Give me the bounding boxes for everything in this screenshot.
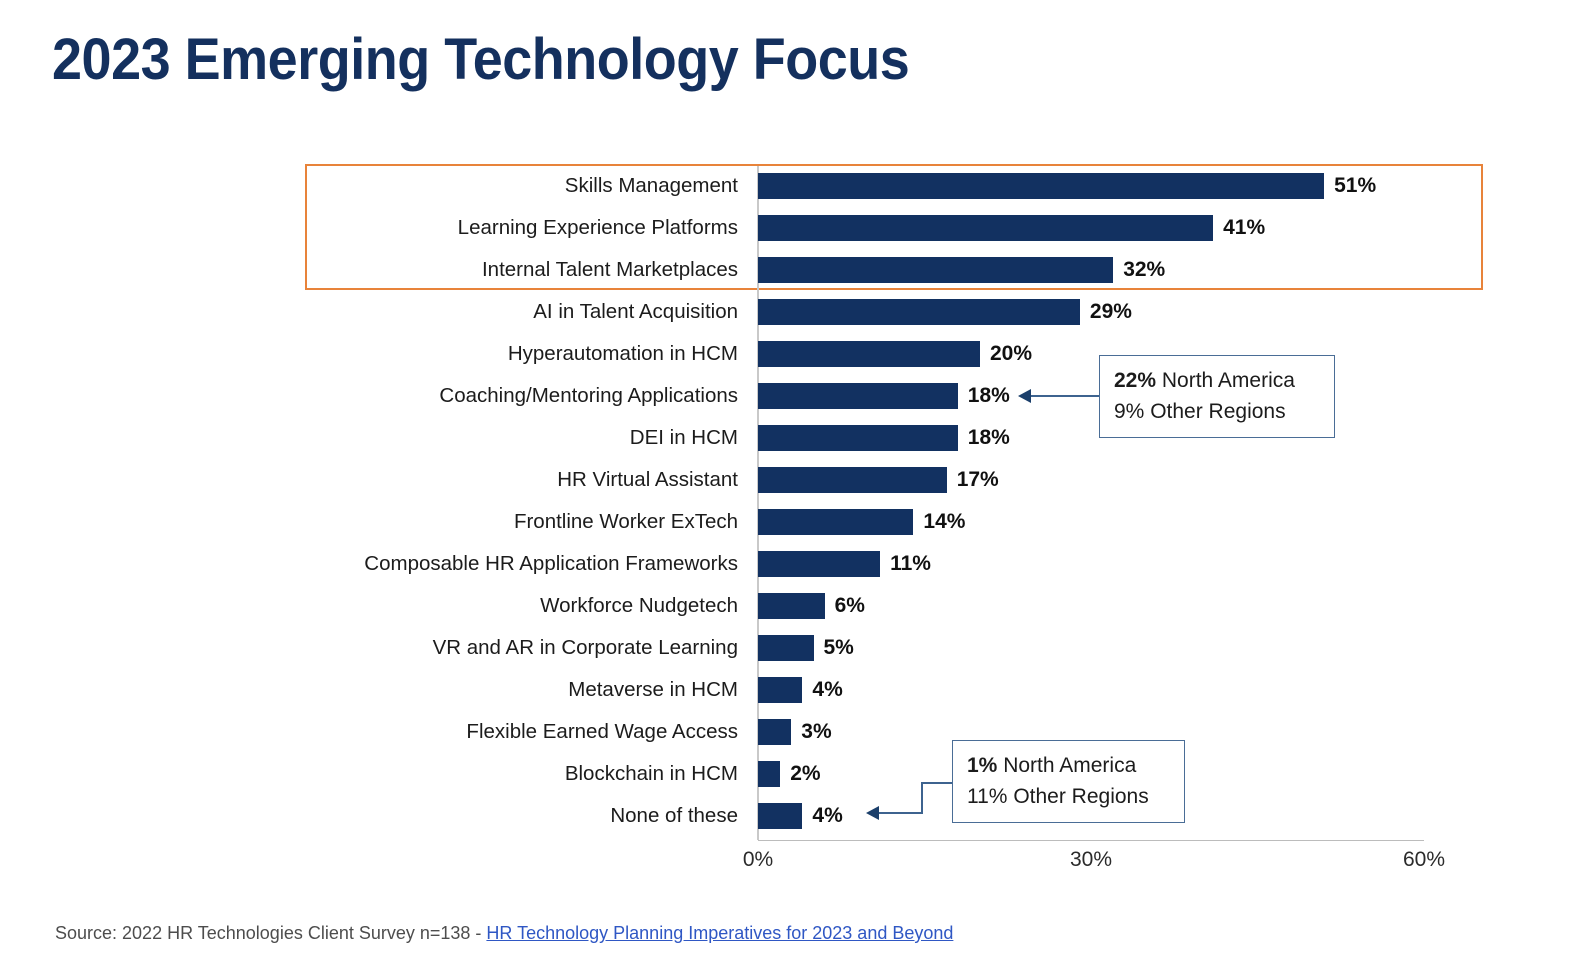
category-label: Blockchain in HCM [300,753,738,795]
callout-region: North America [1003,754,1136,777]
bar-value-label: 29% [1090,299,1132,325]
bar-value-label: 4% [812,803,842,829]
bar-row: Internal Talent Marketplaces32% [300,249,1500,291]
bar [758,803,802,829]
bar [758,299,1080,325]
callout-value: 1% [967,754,997,777]
category-label: DEI in HCM [300,417,738,459]
callout-line: 22% North America [1114,365,1320,396]
bar-value-label: 32% [1123,257,1165,283]
bar-row: HR Virtual Assistant17% [300,459,1500,501]
source-note: Source: 2022 HR Technologies Client Surv… [55,923,953,944]
category-label: Internal Talent Marketplaces [300,249,738,291]
none-of-these-callout: 1% North America 11% Other Regions [952,740,1185,823]
bar-value-label: 4% [812,677,842,703]
coaching-callout-connector-line [1031,395,1099,397]
bar-row: VR and AR in Corporate Learning5% [300,627,1500,669]
axis-tick-label: 0% [698,848,818,872]
category-label: HR Virtual Assistant [300,459,738,501]
coaching-mentoring-callout: 22% North America 9% Other Regions [1099,355,1335,438]
none-callout-connector-horizontal-bottom [879,812,923,814]
callout-line: 9% Other Regions [1114,396,1320,427]
category-label: Flexible Earned Wage Access [300,711,738,753]
value-axis-line [758,840,1424,841]
bar-row: Learning Experience Platforms41% [300,207,1500,249]
bar [758,719,791,745]
category-label: Hyperautomation in HCM [300,333,738,375]
bar-row: None of these4% [300,795,1500,837]
bar [758,341,980,367]
none-callout-connector-horizontal-top [921,782,952,784]
bar-row: Composable HR Application Frameworks11% [300,543,1500,585]
category-label: None of these [300,795,738,837]
callout-value: 9% [1114,400,1144,423]
bar [758,215,1213,241]
category-label: Metaverse in HCM [300,669,738,711]
category-label: Skills Management [300,165,738,207]
axis-tick-label: 30% [1031,848,1151,872]
coaching-callout-arrow-icon [1018,389,1031,403]
bar-value-label: 51% [1334,173,1376,199]
category-label: AI in Talent Acquisition [300,291,738,333]
bar-row: Workforce Nudgetech6% [300,585,1500,627]
callout-line: 1% North America [967,750,1170,781]
bar-row: Blockchain in HCM2% [300,753,1500,795]
bar-value-label: 11% [890,551,931,577]
bar-value-label: 18% [968,383,1010,409]
none-callout-connector-vertical [921,782,923,814]
bar [758,593,825,619]
bar [758,551,880,577]
bar-value-label: 41% [1223,215,1265,241]
source-link[interactable]: HR Technology Planning Imperatives for 2… [486,923,953,943]
category-label: Workforce Nudgetech [300,585,738,627]
bar [758,173,1324,199]
bar-value-label: 14% [923,509,965,535]
bar-value-label: 18% [968,425,1010,451]
bar [758,677,802,703]
bar-value-label: 17% [957,467,999,493]
bar [758,761,780,787]
category-label: VR and AR in Corporate Learning [300,627,738,669]
bar-value-label: 20% [990,341,1032,367]
callout-region: North America [1162,369,1295,392]
bar [758,383,958,409]
callout-value: 11% [967,785,1007,808]
category-label: Frontline Worker ExTech [300,501,738,543]
callout-region: Other Regions [1013,785,1148,808]
bar-row: Metaverse in HCM4% [300,669,1500,711]
bar [758,257,1113,283]
bar-value-label: 3% [801,719,831,745]
category-label: Composable HR Application Frameworks [300,543,738,585]
source-prefix: Source: 2022 HR Technologies Client Surv… [55,923,486,943]
none-callout-arrow-icon [866,806,879,820]
bar-row: AI in Talent Acquisition29% [300,291,1500,333]
bar [758,425,958,451]
bar-chart: Skills Management51%Learning Experience … [0,0,1586,900]
callout-line: 11% Other Regions [967,781,1170,812]
callout-region: Other Regions [1150,400,1285,423]
bar-row: Frontline Worker ExTech14% [300,501,1500,543]
bar [758,467,947,493]
bar-value-label: 2% [790,761,820,787]
bar [758,635,814,661]
bar-row: Skills Management51% [300,165,1500,207]
bar-value-label: 6% [835,593,865,619]
bar [758,509,913,535]
category-label: Coaching/Mentoring Applications [300,375,738,417]
bar-value-label: 5% [824,635,854,661]
callout-value: 22% [1114,369,1156,392]
axis-tick-label: 60% [1364,848,1484,872]
category-label: Learning Experience Platforms [300,207,738,249]
bar-row: Flexible Earned Wage Access3% [300,711,1500,753]
